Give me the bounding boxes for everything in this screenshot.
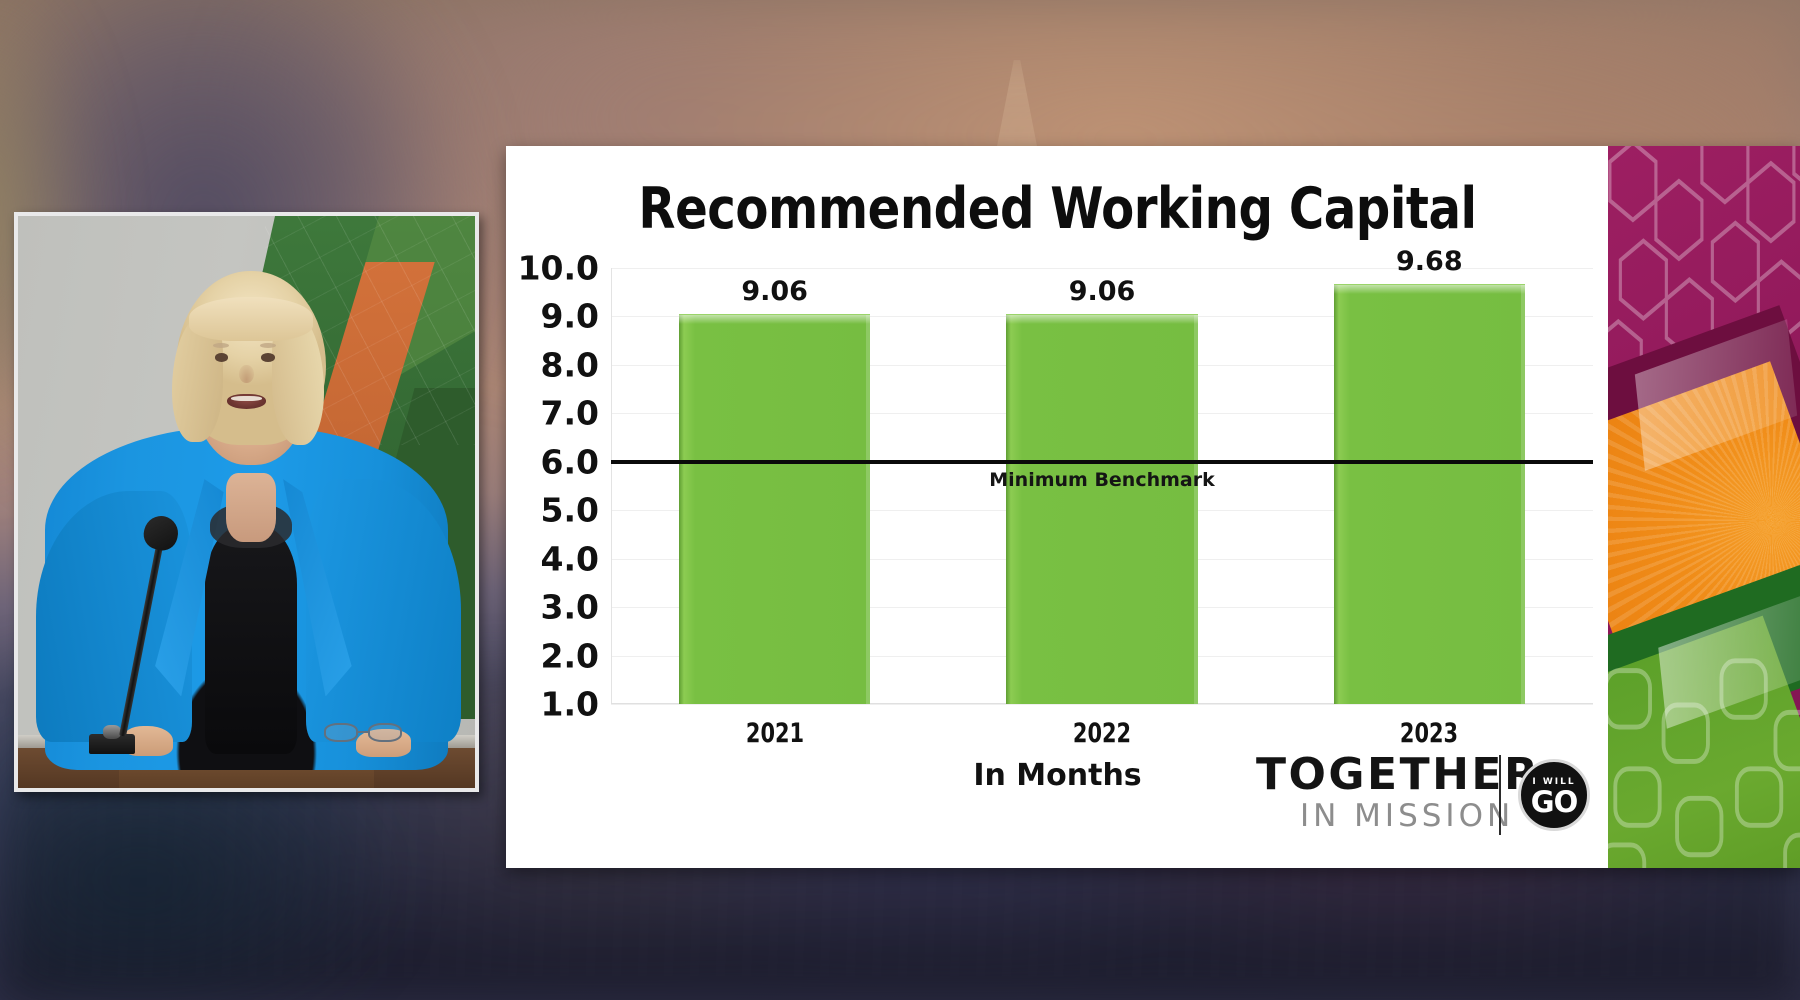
y-tick-label: 7.0	[506, 394, 599, 433]
chart-title: Recommended Working Capital	[539, 176, 1576, 242]
bar-value-label: 9.68	[1396, 246, 1463, 277]
speaker-nose	[239, 365, 254, 383]
y-tick-label: 8.0	[506, 345, 599, 384]
y-tick-label: 2.0	[506, 636, 599, 675]
gridline	[611, 704, 1593, 705]
speaker-eye-left	[215, 353, 229, 362]
y-tick-label: 5.0	[506, 491, 599, 530]
y-axis-tick-labels: 10.09.08.07.06.05.04.03.02.01.0	[506, 268, 1609, 704]
speaker-teeth	[231, 396, 262, 402]
y-tick-label: 3.0	[506, 588, 599, 627]
badge-text-go: GO	[1521, 788, 1587, 817]
y-tick-label: 1.0	[506, 685, 599, 724]
together-in-mission-logo: TOGETHER IN MISSION I WILL GO	[1256, 753, 1596, 843]
decorative-side-graphic	[1608, 146, 1800, 868]
microphone-base-collar	[103, 725, 121, 739]
y-tick-label: 6.0	[506, 442, 599, 481]
speaker-bangs	[189, 297, 312, 340]
y-tick-label: 10.0	[506, 249, 599, 288]
y-tick-label: 4.0	[506, 539, 599, 578]
chart-region: Recommended Working Capital Minimum Benc…	[506, 146, 1609, 868]
logo-divider	[1499, 755, 1501, 835]
speaker-eye-right	[261, 353, 275, 362]
speaker-black-blouse	[205, 525, 296, 754]
logo-word-together: TOGETHER	[1256, 753, 1540, 797]
x-tick-label: 2021	[746, 718, 804, 749]
x-tick-label: 2023	[1400, 718, 1458, 749]
eyeglasses-icon	[324, 723, 402, 742]
speaker-video-inset	[14, 212, 479, 792]
speaker-neck	[226, 473, 276, 542]
presentation-slide: Recommended Working Capital Minimum Benc…	[506, 146, 1800, 868]
logo-word-in-mission: IN MISSION	[1300, 801, 1514, 832]
x-tick-label: 2022	[1073, 718, 1131, 749]
bar-value-label: 9.06	[741, 276, 808, 307]
y-tick-label: 9.0	[506, 297, 599, 336]
i-will-go-badge-icon: I WILL GO	[1518, 759, 1590, 831]
bar-value-label: 9.06	[1069, 276, 1136, 307]
